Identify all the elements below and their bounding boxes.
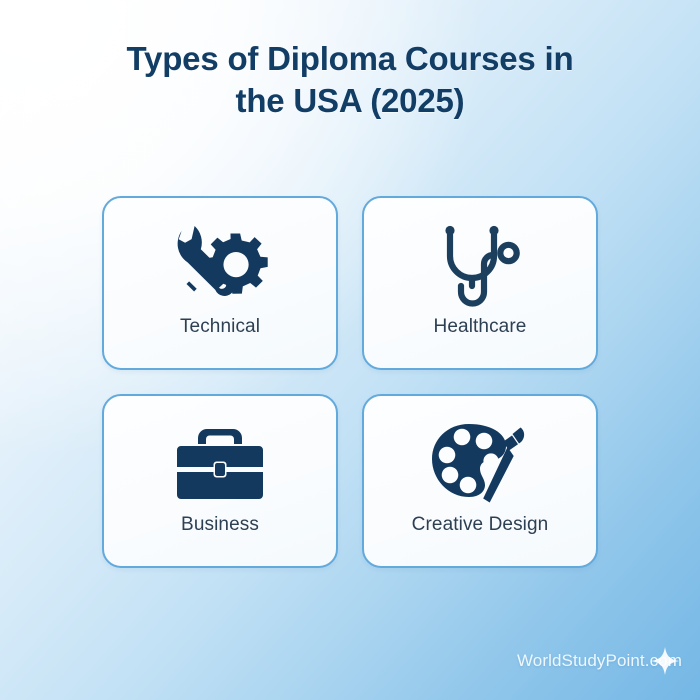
card-label-technical: Technical: [180, 317, 260, 336]
stethoscope-icon: [436, 223, 524, 309]
watermark: WorldStudyPoint.com: [517, 649, 682, 673]
course-type-grid: Technical Healthcare: [102, 196, 598, 568]
page-title: Types of Diploma Courses in the USA (202…: [0, 38, 700, 122]
watermark-text: WorldStudyPoint.com: [517, 651, 682, 671]
page-title-line-1: Types of Diploma Courses in: [0, 38, 700, 80]
wrench-gear-icon: [168, 223, 272, 309]
card-healthcare[interactable]: Healthcare: [362, 196, 598, 370]
palette-brush-icon: [430, 421, 530, 507]
card-label-healthcare: Healthcare: [434, 317, 527, 336]
card-business[interactable]: Business: [102, 394, 338, 568]
card-creative-design[interactable]: Creative Design: [362, 394, 598, 568]
page-title-line-2: the USA (2025): [0, 80, 700, 122]
infographic-canvas: Types of Diploma Courses in the USA (202…: [0, 0, 700, 700]
card-label-business: Business: [181, 515, 259, 534]
briefcase-icon: [174, 421, 266, 507]
card-technical[interactable]: Technical: [102, 196, 338, 370]
card-label-creative-design: Creative Design: [412, 515, 549, 534]
